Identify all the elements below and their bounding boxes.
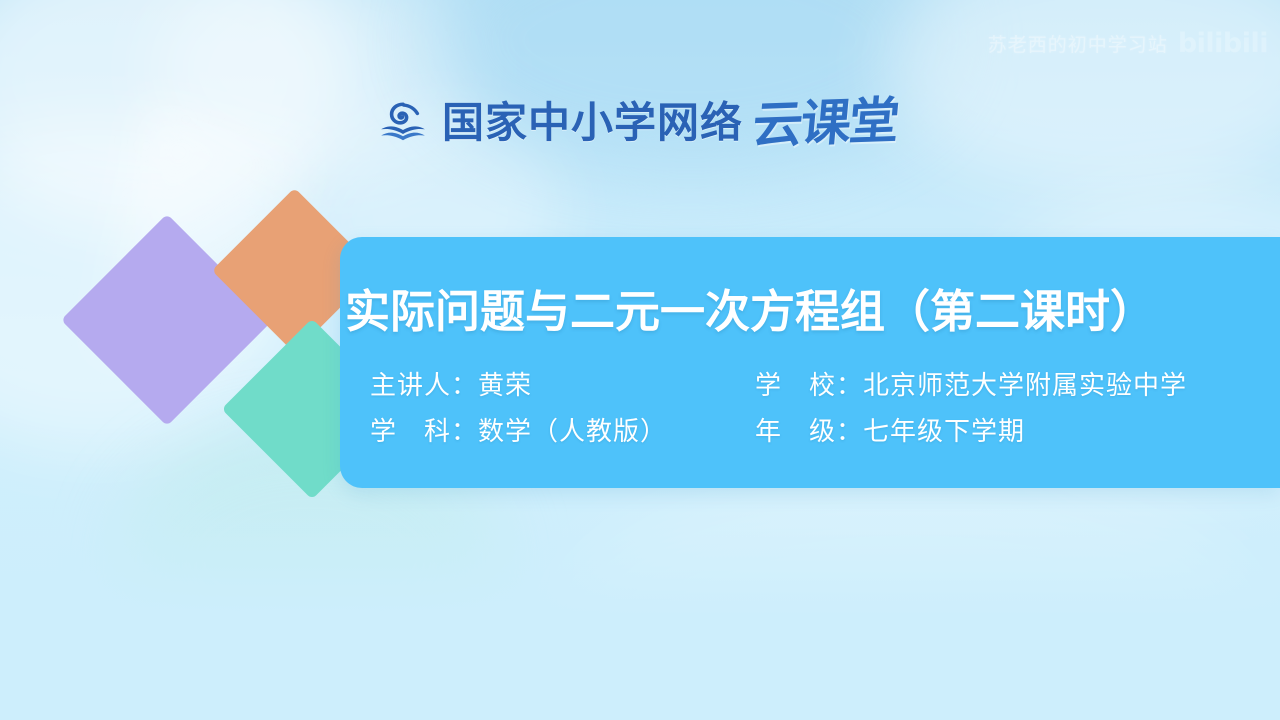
background-bottom-fade xyxy=(0,460,1280,720)
school-field: 学 校：北京师范大学附属实验中学 xyxy=(755,365,1280,402)
presenter-field: 主讲人：黄荣 xyxy=(370,365,755,402)
lesson-cover-slide: 苏老西的初中学习站 bilibili 国家中小学网络 云课堂 实际问题与二元一次… xyxy=(0,0,1280,720)
brand-name-main: 国家中小学网络 xyxy=(442,102,743,144)
lesson-meta-row: 主讲人：黄荣 学 校：北京师范大学附属实验中学 xyxy=(370,365,1280,411)
watermark: 苏老西的初中学习站 bilibili xyxy=(988,30,1268,57)
brand-name-script: 云课堂 xyxy=(751,96,900,151)
bilibili-icon: bilibili xyxy=(1178,30,1268,57)
subject-field: 学 科：数学（人教版） xyxy=(370,411,755,448)
page-title: 实际问题与二元一次方程组（第二课时） xyxy=(345,289,1280,334)
lesson-meta-rows: 主讲人：黄荣 学 校：北京师范大学附属实验中学 学 科：数学（人教版） 年 级：… xyxy=(370,365,1280,457)
watermark-text: 苏老西的初中学习站 xyxy=(988,30,1168,57)
open-book-wave-emblem-icon xyxy=(378,98,428,148)
grade-field: 年 级：七年级下学期 xyxy=(755,411,1280,448)
lesson-info-panel: 实际问题与二元一次方程组（第二课时） 主讲人：黄荣 学 校：北京师范大学附属实验… xyxy=(340,237,1280,488)
brand-logo: 国家中小学网络 云课堂 xyxy=(378,88,897,158)
lesson-meta-row: 学 科：数学（人教版） 年 级：七年级下学期 xyxy=(370,411,1280,457)
